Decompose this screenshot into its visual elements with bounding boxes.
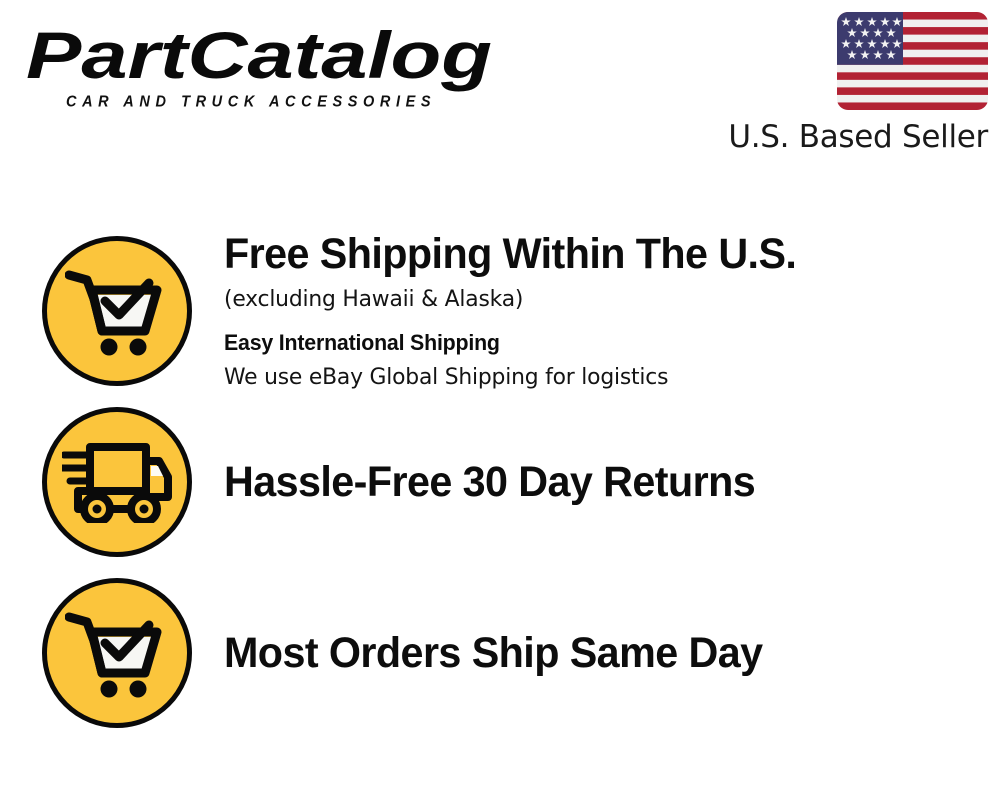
feature-text: Hassle-Free 30 Day Returns [224, 457, 1000, 507]
feature-subtitle-strong: Easy International Shipping [224, 327, 957, 359]
brand-logo: PartCatalog CAR AND TRUCK ACCESSORIES [24, 22, 494, 92]
us-based-seller-label: U.S. Based Seller [728, 118, 988, 156]
brand-wordmark-icon: PartCatalog [24, 22, 494, 92]
feature-subtitle: (excluding Hawaii & Alaska) [224, 283, 957, 315]
feature-row: Most Orders Ship Same Day [0, 567, 1000, 739]
feature-title: Most Orders Ship Same Day [224, 628, 950, 678]
banner-header: PartCatalog CAR AND TRUCK ACCESSORIES [0, 0, 1000, 185]
brand-wordmark-text: PartCatalog [26, 22, 492, 92]
feature-title: Free Shipping Within The U.S. [224, 229, 950, 279]
feature-text: Free Shipping Within The U.S. (excluding… [224, 229, 1000, 393]
feature-text: Most Orders Ship Same Day [224, 628, 1000, 678]
us-flag-icon [837, 12, 988, 110]
shopping-cart-check-icon [42, 578, 192, 728]
feature-list: Free Shipping Within The U.S. (excluding… [0, 225, 1000, 739]
shopping-cart-check-icon [42, 236, 192, 386]
feature-row: Hassle-Free 30 Day Returns [0, 397, 1000, 567]
feature-subtitle-detail: We use eBay Global Shipping for logistic… [224, 361, 957, 393]
delivery-truck-icon [42, 407, 192, 557]
feature-title: Hassle-Free 30 Day Returns [224, 457, 950, 507]
brand-tagline: CAR AND TRUCK ACCESSORIES [66, 94, 436, 111]
feature-row: Free Shipping Within The U.S. (excluding… [0, 225, 1000, 397]
promo-banner: PartCatalog CAR AND TRUCK ACCESSORIES [0, 0, 1000, 800]
